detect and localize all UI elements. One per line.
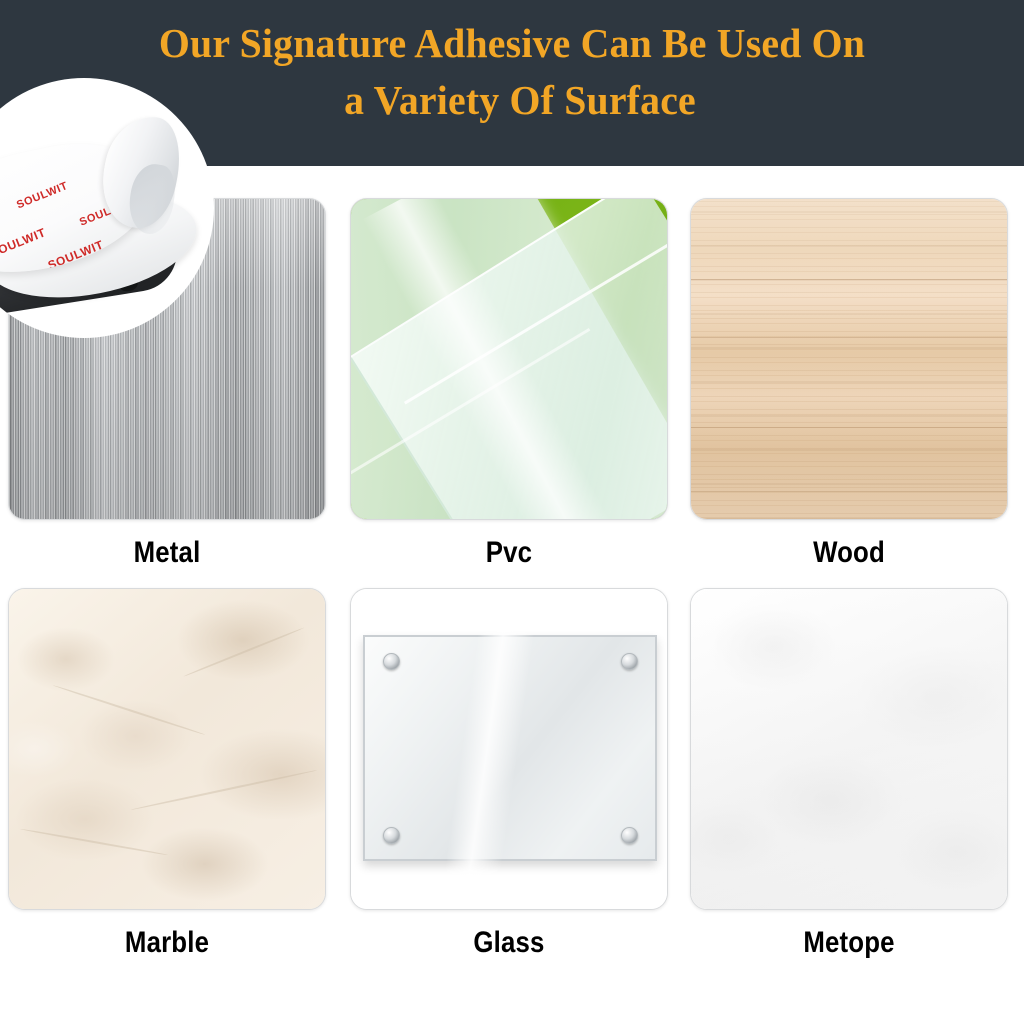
- glass-texture: [351, 589, 667, 909]
- surface-label-wood: Wood: [712, 536, 985, 570]
- surface-cell-wood[interactable]: Wood: [690, 198, 1020, 570]
- surface-swatch-marble[interactable]: [8, 588, 326, 910]
- marble-vein: [20, 828, 168, 856]
- marble-vein: [53, 684, 206, 735]
- surface-cell-metope[interactable]: Metope: [690, 588, 1020, 960]
- surface-swatch-wood[interactable]: [690, 198, 1008, 520]
- standoff-screw-icon: [621, 827, 638, 844]
- glass-panel: [363, 635, 657, 861]
- wood-plank-seam: [691, 337, 1007, 338]
- standoff-screw-icon: [383, 653, 400, 670]
- surface-label-pvc: Pvc: [372, 536, 645, 570]
- painted-wall-texture: [691, 589, 1007, 909]
- surface-cell-glass[interactable]: Glass: [350, 588, 680, 960]
- surface-label-metal: Metal: [30, 536, 303, 570]
- wood-grain-texture: [691, 199, 1007, 519]
- wood-plank-seam: [691, 279, 1007, 280]
- surface-swatch-metope[interactable]: [690, 588, 1008, 910]
- product-adhesive-inset: SOULWIT SOULWIT SOULWIT SOULWIT SOULWIT …: [0, 78, 214, 338]
- surface-label-marble: Marble: [30, 926, 303, 960]
- pvc-texture: [351, 199, 667, 519]
- surface-swatch-pvc[interactable]: [350, 198, 668, 520]
- wood-plank-seam: [691, 491, 1007, 492]
- surface-swatch-glass[interactable]: [350, 588, 668, 910]
- glass-gloss-highlight: [442, 618, 535, 893]
- liner-brand-text: SOULWIT: [0, 225, 48, 260]
- marble-texture: [9, 589, 325, 909]
- surface-label-glass: Glass: [372, 926, 645, 960]
- standoff-screw-icon: [621, 653, 638, 670]
- marble-vein: [131, 769, 317, 810]
- product-inset-stage: SOULWIT SOULWIT SOULWIT SOULWIT SOULWIT …: [0, 78, 214, 338]
- wood-plank-seam: [691, 427, 1007, 428]
- standoff-screw-icon: [383, 827, 400, 844]
- headline-line-1: Our Signature Adhesive Can Be Used On: [15, 0, 1008, 65]
- marble-vein: [183, 627, 304, 678]
- liner-brand-text: SOULWIT: [15, 180, 70, 211]
- surface-label-metope: Metope: [712, 926, 985, 960]
- surface-cell-pvc[interactable]: Pvc: [350, 198, 680, 570]
- surface-cell-marble[interactable]: Marble: [8, 588, 338, 960]
- surface-row: Marble Glass Metope: [0, 588, 1024, 978]
